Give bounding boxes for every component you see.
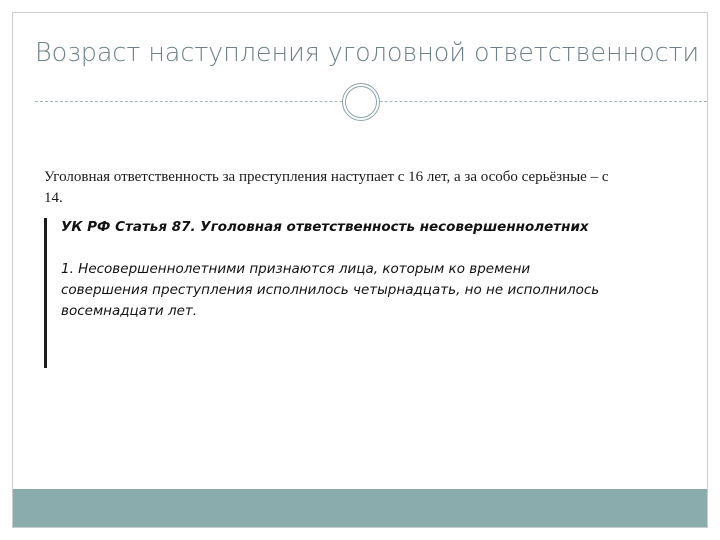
quote-heading: УК РФ Статья 87. Уголовная ответственнос… — [61, 218, 604, 237]
quote-body: 1. Несовершеннолетними признаются лица, … — [61, 259, 604, 322]
page-title: Возраст наступления уголовной ответствен… — [35, 38, 705, 68]
double-ring-circle-icon — [342, 83, 380, 121]
quote-block: УК РФ Статья 87. Уголовная ответственнос… — [44, 218, 604, 368]
footer-band — [13, 489, 707, 527]
intro-paragraph: Уголовная ответственность за преступлени… — [44, 167, 624, 209]
slide-canvas: Возраст наступления уголовной ответствен… — [12, 12, 708, 528]
ring-inner — [345, 86, 377, 118]
